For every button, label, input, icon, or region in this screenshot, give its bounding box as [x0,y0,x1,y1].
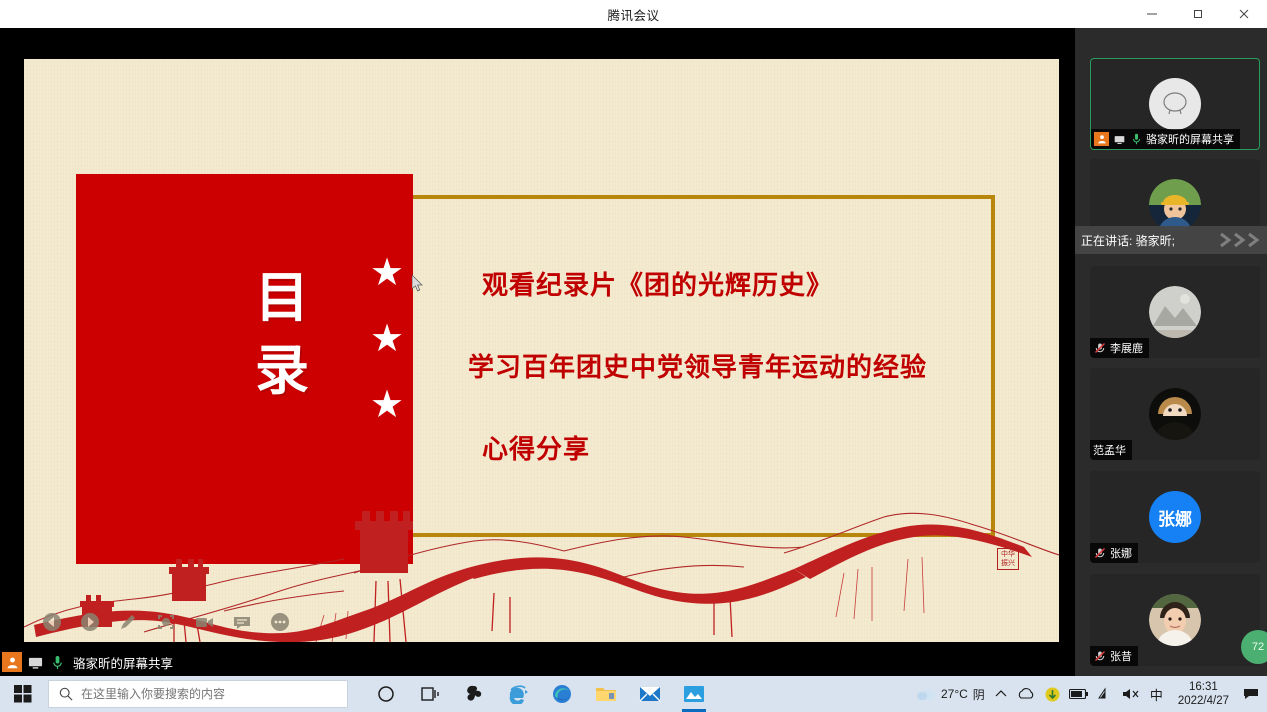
speech-bubble-icon [1158,87,1192,121]
slide-heading: 目录 [246,262,320,408]
participant-tile[interactable]: 张娜 张娜 [1090,471,1260,563]
file-explorer-icon[interactable] [586,676,626,712]
star-icon: ★ [370,386,404,424]
window-title: 腾讯会议 [607,5,659,24]
slide-line: 心得分享 [468,429,1028,466]
participant-tile[interactable]: 李展鹿 [1090,266,1260,358]
windows-logo-icon [14,685,32,703]
weather-condition: 阴 [973,686,985,703]
taskbar-app-icons[interactable] [366,676,714,712]
participant-name: 张娜 [1110,545,1132,561]
slide-line: 学习百年团史中党领导青年运动的经验 [468,347,1028,384]
slide-toolbar[interactable] [41,611,291,633]
microphone-muted-icon [1093,341,1107,355]
participants-rail[interactable]: 骆家昕的屏幕共享 [1075,28,1267,676]
wifi-icon[interactable] [1095,684,1115,704]
participant-icon [2,652,22,672]
shared-screen-area[interactable]: 目录 ★ ★ ★ 观看纪录片《团的光辉历史》 学习百年团史中党领导青年运动的经验… [0,28,1075,676]
weather-widget[interactable]: 27°C 阴 [916,686,985,703]
photos-icon[interactable] [674,676,714,712]
participant-name-chip: 张昔 [1090,646,1138,666]
screen-root: 腾讯会议 目录 ★ ★ ★ [0,0,1267,712]
laser-pointer-icon[interactable] [155,611,177,633]
chevron-up-icon[interactable] [991,684,1011,704]
window-controls [1129,0,1267,28]
task-view-icon[interactable] [410,676,450,712]
screen-share-icon [1112,132,1126,146]
avatar [1149,78,1201,130]
screen-share-icon [26,653,44,671]
update-icon[interactable] [1043,684,1063,704]
search-icon [59,687,73,701]
avatar [1149,594,1201,646]
participant-count-badge[interactable]: 72 [1241,630,1267,664]
speaking-indicator-bar: 正在讲话: 骆家昕; [1075,226,1267,254]
restore-icon [1192,8,1204,20]
search-input[interactable] [81,687,326,701]
app-icon[interactable] [454,676,494,712]
participant-name: 范孟华 [1093,442,1126,458]
meeting-window: 目录 ★ ★ ★ 观看纪录片《团的光辉历史》 学习百年团史中党领导青年运动的经验… [0,28,1267,676]
video-icon[interactable] [193,611,215,633]
presentation-slide[interactable]: 目录 ★ ★ ★ 观看纪录片《团的光辉历史》 学习百年团史中党领导青年运动的经验… [24,59,1059,642]
avatar-initials: 张娜 [1158,505,1192,530]
mouse-cursor [412,275,424,293]
cartoon-avatar-icon [1149,179,1201,231]
double-chevron-icon [1215,230,1261,250]
onedrive-icon[interactable] [1017,684,1037,704]
ime-indicator[interactable]: 中 [1147,685,1166,704]
more-options-icon[interactable] [269,611,291,633]
avatar [1149,388,1201,440]
seal-stamp: 中华振兴 [997,548,1019,570]
weather-temperature: 27°C [941,687,968,701]
cloudy-icon [916,686,936,702]
participant-tile[interactable]: 张昔 [1090,574,1260,666]
internet-explorer-icon[interactable] [498,676,538,712]
windows-taskbar[interactable]: 27°C 阴 中 16:31 202 [0,676,1267,712]
previous-slide-icon[interactable] [41,611,63,633]
participant-name: 李展鹿 [1110,340,1143,356]
subtitle-icon[interactable] [231,611,253,633]
participant-name-chip: 范孟华 [1090,440,1132,460]
minimize-button[interactable] [1129,0,1175,28]
microphone-icon [1129,132,1143,146]
battery-icon[interactable] [1069,684,1089,704]
avatar: 张娜 [1149,491,1201,543]
action-center-icon[interactable] [1241,684,1261,704]
star-decorations: ★ ★ ★ [357,254,417,424]
participant-tile[interactable]: 范孟华 [1090,368,1260,460]
slide-line: 观看纪录片《团的光辉历史》 [468,265,1028,302]
microphone-muted-icon [1093,649,1107,663]
participant-tile-screenshare[interactable]: 骆家昕的屏幕共享 [1090,58,1260,150]
minimize-icon [1146,8,1158,20]
star-icon: ★ [370,254,404,292]
participant-name-chip: 李展鹿 [1090,338,1149,358]
participant-name-chip: 张娜 [1090,543,1138,563]
microsoft-edge-icon[interactable] [542,676,582,712]
photo-avatar-icon [1149,286,1201,338]
participant-name: 张昔 [1110,648,1132,664]
participant-name: 骆家昕的屏幕共享 [1146,131,1234,147]
clock-time: 16:31 [1178,680,1229,694]
clock[interactable]: 16:31 2022/4/27 [1172,680,1235,708]
clock-date: 2022/4/27 [1178,694,1229,708]
speaking-label: 正在讲话: 骆家昕; [1081,232,1175,249]
volume-muted-icon[interactable] [1121,684,1141,704]
screen-share-label: 骆家昕的屏幕共享 [73,653,173,672]
participant-name-chip: 骆家昕的屏幕共享 [1091,129,1240,149]
photo-avatar-icon [1149,388,1201,440]
screen-share-status-bar: 骆家昕的屏幕共享 [0,648,1075,676]
star-icon: ★ [370,320,404,358]
mail-icon[interactable] [630,676,670,712]
avatar [1149,286,1201,338]
microphone-icon [48,653,66,671]
cortana-icon[interactable] [366,676,406,712]
close-icon [1238,8,1250,20]
participant-icon [1094,132,1109,146]
pen-icon[interactable] [117,611,139,633]
photo-avatar-icon [1149,594,1201,646]
red-title-block: 目录 ★ ★ ★ [76,174,413,564]
window-titlebar: 腾讯会议 [0,0,1267,28]
system-tray[interactable]: 27°C 阴 中 16:31 202 [916,680,1267,708]
close-button[interactable] [1221,0,1267,28]
slide-body-text: 观看纪录片《团的光辉历史》 学习百年团史中党领导青年运动的经验 心得分享 [468,265,1028,511]
search-box[interactable] [48,680,348,708]
next-slide-icon[interactable] [79,611,101,633]
avatar [1149,179,1201,231]
maximize-button[interactable] [1175,0,1221,28]
microphone-muted-icon [1093,546,1107,560]
start-button[interactable] [0,676,46,712]
